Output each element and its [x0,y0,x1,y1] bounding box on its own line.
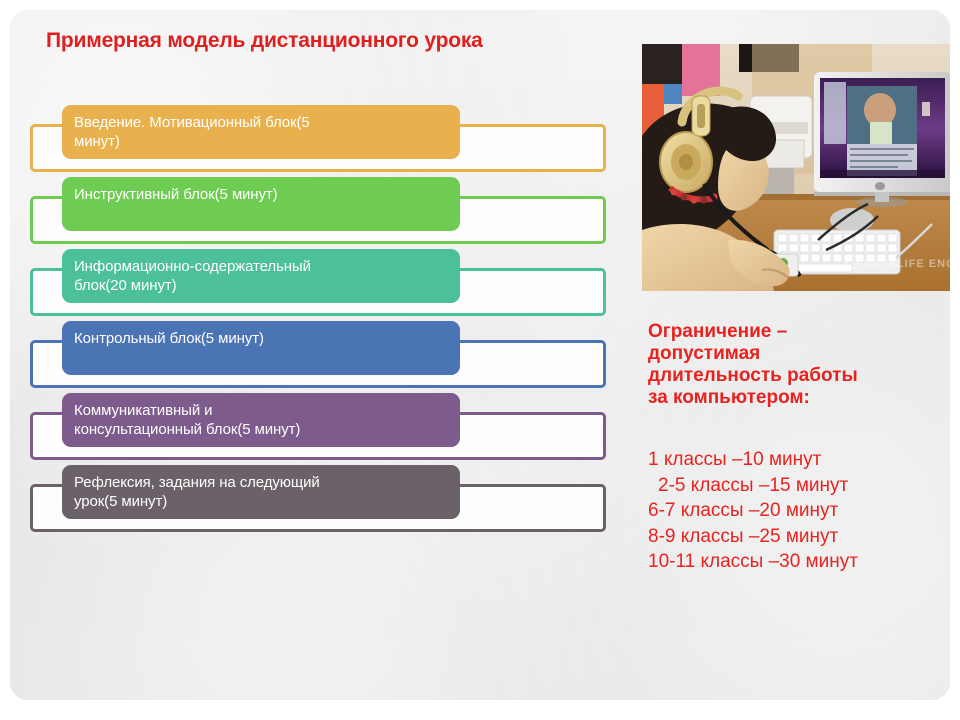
process-item-label: Коммуникативный иконсультационный блок(5… [62,393,460,447]
process-item-label: Рефлексия, задания на следующийурок(5 ми… [62,465,460,519]
process-item-label-line: блок(20 минут) [74,276,448,295]
process-item-label-line: Введение. Мотивационный блок(5 [74,113,448,132]
limit-heading-line: допустимая [648,343,948,365]
process-item-label-line: минут) [74,132,448,151]
limit-row: 10-11 классы –30 минут [648,549,950,575]
process-item-label-line: урок(5 минут) [74,492,448,511]
process-item-label-line: Информационно-содержательный [74,257,448,276]
process-item-label: Введение. Мотивационный блок(5минут) [62,105,460,159]
limit-row: 6-7 классы –20 минут [648,498,950,524]
svg-text:DATALIFE ENGINE: DATALIFE ENGINE [864,258,950,270]
limit-heading-line: длительность работы [648,365,948,387]
process-item-label: Информационно-содержательныйблок(20 мину… [62,249,460,303]
limit-row: 1 классы –10 минут [648,447,950,473]
photo-scene-illustration: DATALIFE ENGINE [642,44,950,291]
page-title: Примерная модель дистанционного урока [46,28,626,54]
slide-panel: Примерная модель дистанционного урока Вв… [10,10,950,700]
process-block-list: Введение. Мотивационный блок(5минут)Инст… [20,100,620,540]
process-item-label-line: Рефлексия, задания на следующий [74,473,448,492]
limit-row: 2-5 классы –15 минут [648,473,950,499]
process-item-label-line: Инструктивный блок(5 минут) [74,185,448,204]
process-item-label-line: консультационный блок(5 минут) [74,420,448,439]
process-item-reflection-homework-block[interactable]: Рефлексия, задания на следующийурок(5 ми… [20,460,620,552]
limit-list: 1 классы –10 минут 2-5 классы –15 минут6… [648,447,950,575]
process-item-label: Контрольный блок(5 минут) [62,321,460,375]
limit-heading-line: за компьютером: [648,387,948,409]
process-item-label: Инструктивный блок(5 минут) [62,177,460,231]
limit-heading-line: Ограничение – [648,321,948,343]
lesson-photo: DATALIFE ENGINE [642,44,950,291]
process-item-label-line: Контрольный блок(5 минут) [74,329,448,348]
process-item-label-line: Коммуникативный и [74,401,448,420]
limit-heading: Ограничение –допустимаядлительность рабо… [648,321,948,409]
limit-row: 8-9 классы –25 минут [648,524,950,550]
